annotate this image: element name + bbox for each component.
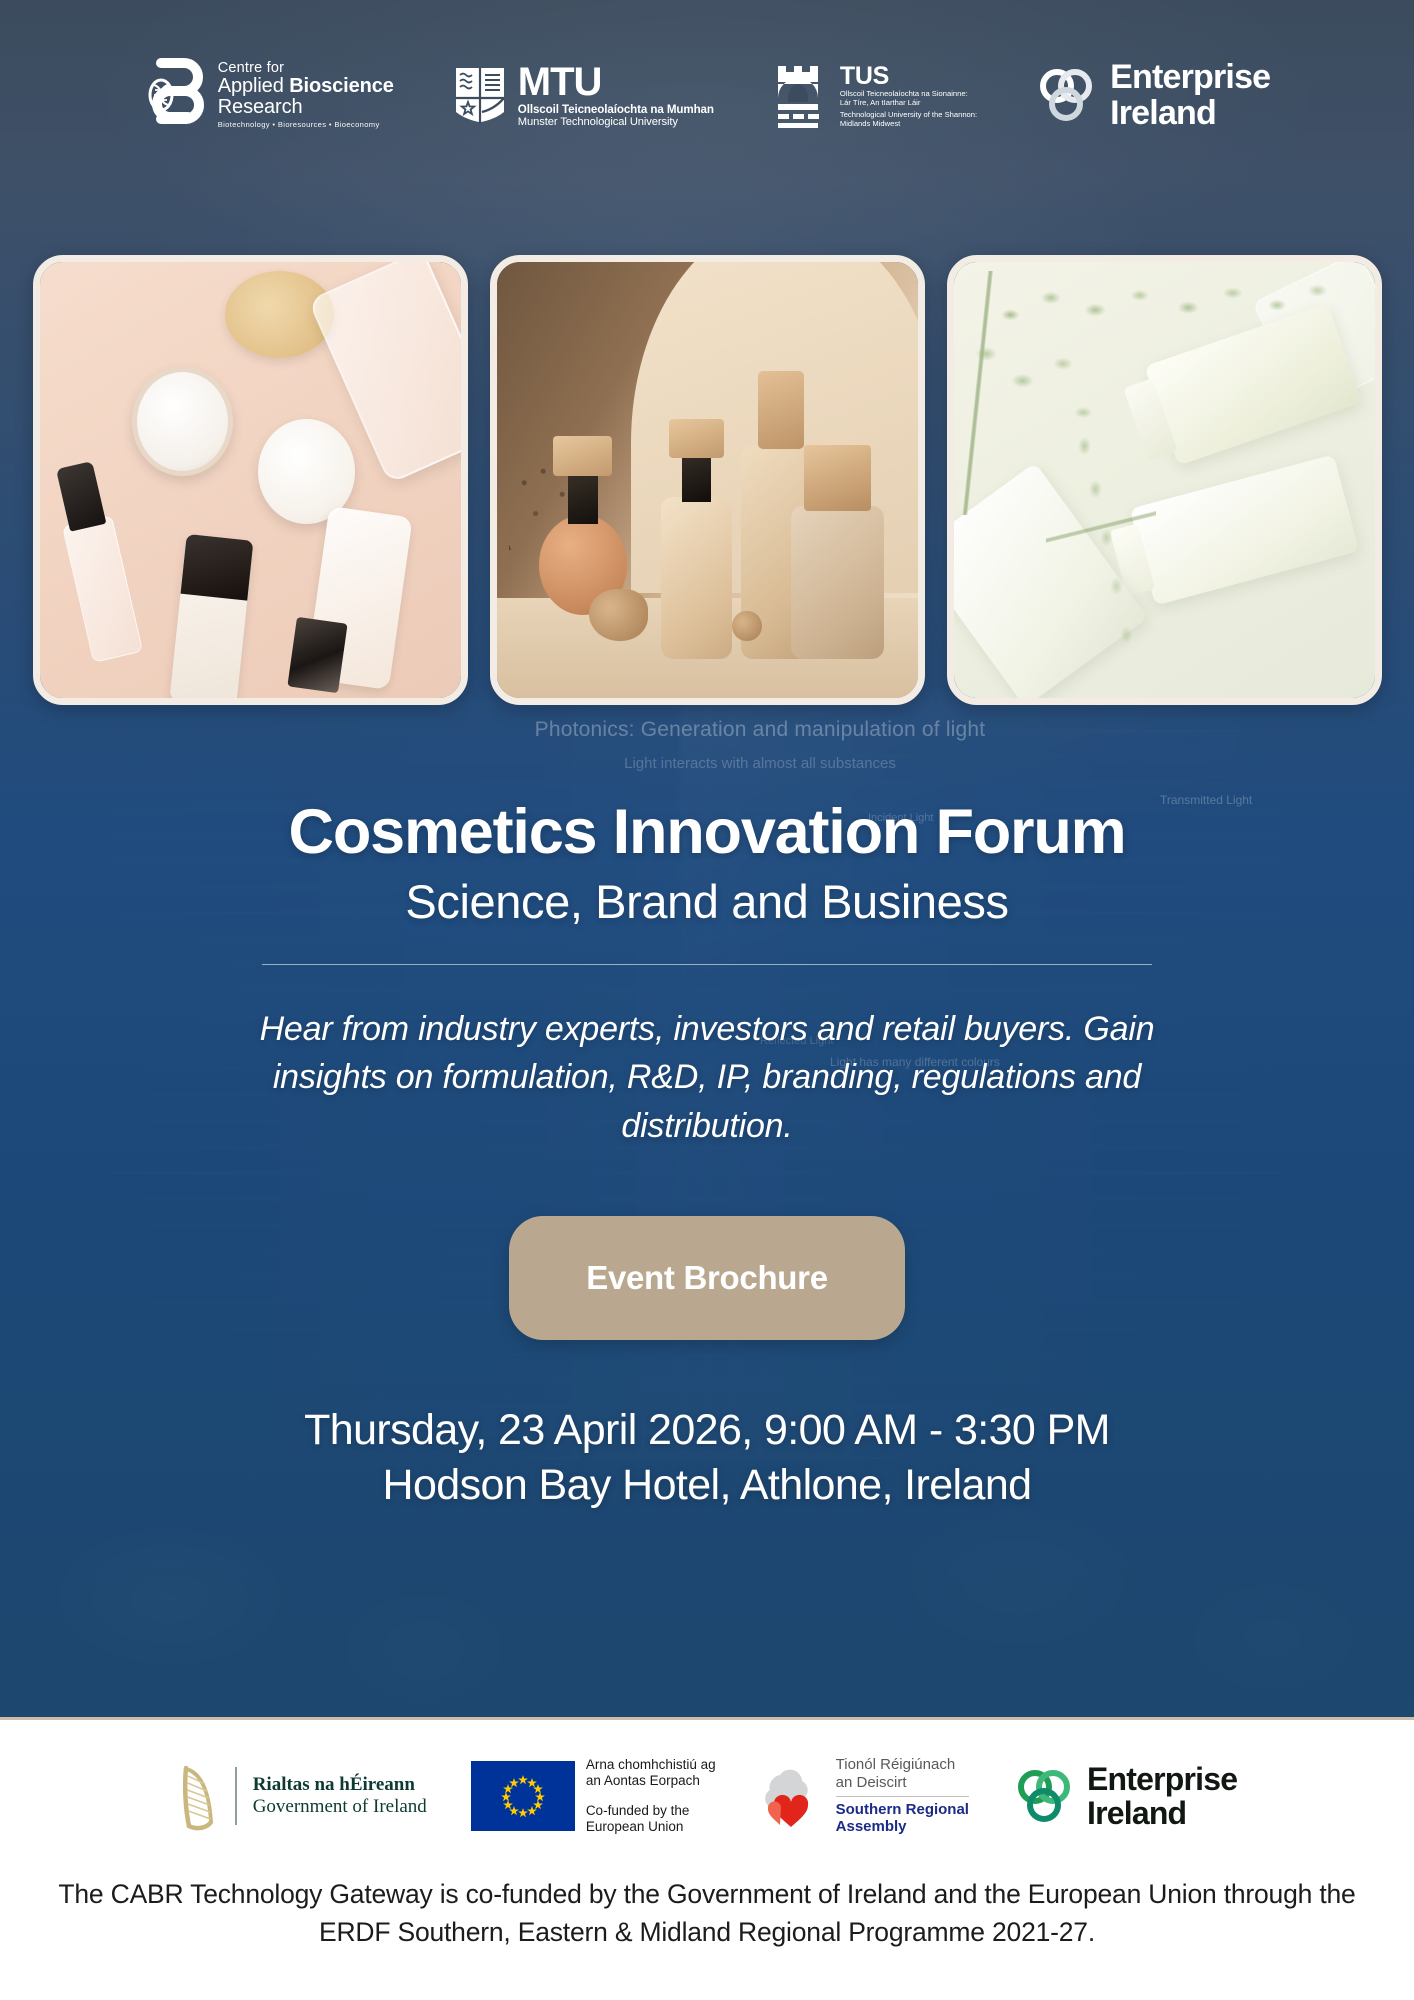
enterprise-ireland-trefoil-icon — [1013, 1767, 1075, 1825]
serum-dropper-bottle — [62, 515, 143, 662]
irish-harp-icon — [177, 1760, 219, 1832]
cabr-line3: Research — [218, 97, 394, 118]
eu-irish-line1: Arna chomhchistiú ag — [586, 1757, 716, 1773]
walnut-small — [732, 611, 761, 642]
ei-line2: Ireland — [1110, 96, 1270, 130]
government-of-ireland-logo: Rialtas na hÉireann Government of Irelan… — [177, 1760, 427, 1832]
eucalyptus-sprig-upper — [962, 271, 1366, 515]
event-brochure-button[interactable]: Event Brochure — [509, 1216, 905, 1340]
tus-english-line2: Midlands Midwest — [840, 120, 977, 129]
sra-english-line2: Assembly — [836, 1818, 969, 1836]
cream-bottle-neck — [682, 458, 711, 502]
black-cap — [287, 616, 347, 692]
eu-wordmark: Arna chomhchistiú ag an Aontas Eorpach C… — [586, 1757, 716, 1836]
tall-bottle-pump — [758, 371, 804, 449]
mtu-shield-icon — [452, 62, 508, 128]
event-venue: Hodson Bay Hotel, Athlone, Ireland — [0, 1458, 1414, 1513]
poster-content: Cosmetics Innovation Forum Science, Bran… — [0, 705, 1414, 1513]
european-union-logo: Arna chomhchistiú ag an Aontas Eorpach C… — [471, 1757, 716, 1836]
sra-cloud-heart-icon — [760, 1765, 826, 1827]
tus-irish-line2: Lár Tíre, An tIarthar Láir — [840, 99, 977, 108]
gov-wordmark: Rialtas na hÉireann Government of Irelan… — [253, 1774, 427, 1818]
photo-pump-bottles — [490, 255, 925, 705]
ei-line1: Enterprise — [1110, 60, 1270, 94]
page-subtitle: Science, Brand and Business — [0, 876, 1414, 929]
eucalyptus-sprig-lower — [1046, 419, 1155, 689]
mtu-irish-name: Ollscoil Teicneolaíochta na Mumhan — [518, 104, 714, 116]
southern-regional-assembly-logo: Tionól Réigiúnach an Deiscirt Southern R… — [760, 1756, 969, 1836]
enterprise-ireland-footer-wordmark: Enterprise Ireland — [1087, 1763, 1237, 1829]
enterprise-ireland-trefoil-icon — [1035, 66, 1097, 124]
round-bottle-pump — [553, 436, 612, 475]
funding-note: The CABR Technology Gateway is co-funded… — [0, 1876, 1414, 1951]
tus-acronym: TUS — [840, 62, 977, 90]
partner-logo-bar: Centre for Applied Bioscience Research B… — [0, 0, 1414, 190]
event-poster: Photonics: Generation and manipulation o… — [0, 0, 1414, 2000]
mtu-wordmark: MTU Ollscoil Teicneolaíochta na Mumhan M… — [518, 62, 714, 128]
cabr-line1: Centre for — [218, 61, 394, 76]
gov-irish-name: Rialtas na hÉireann — [253, 1774, 427, 1796]
sra-irish-line2: an Deiscirt — [836, 1774, 969, 1792]
black-cap-tube — [170, 534, 254, 705]
cabr-logo: Centre for Applied Bioscience Research B… — [144, 57, 394, 133]
mtu-acronym: MTU — [518, 62, 714, 102]
funder-logo-bar: Rialtas na hÉireann Government of Irelan… — [0, 1720, 1414, 1872]
eu-english-line1: Co-funded by the — [586, 1803, 716, 1819]
eu-spacer — [586, 1789, 716, 1803]
cabr-mark-icon — [144, 57, 206, 133]
sra-english-line1: Southern Regional — [836, 1801, 969, 1819]
eu-irish-line2: an Aontas Eorpach — [586, 1773, 716, 1789]
enterprise-ireland-footer-logo: Enterprise Ireland — [1013, 1763, 1237, 1829]
tus-wordmark: TUS Ollscoil Teicneolaíochta na Sionainn… — [840, 62, 977, 128]
sra-divider — [836, 1796, 969, 1797]
enterprise-ireland-wordmark: Enterprise Ireland — [1110, 60, 1270, 130]
event-description: Hear from industry experts, investors an… — [207, 1005, 1207, 1150]
mtu-english-name: Munster Technological University — [518, 117, 714, 128]
event-datetime: Thursday, 23 April 2026, 9:00 AM - 3:30 … — [0, 1403, 1414, 1458]
eu-english-line2: European Union — [586, 1819, 716, 1835]
photo-cream-tubes — [947, 255, 1382, 705]
page-title: Cosmetics Innovation Forum — [0, 800, 1414, 866]
cabr-line2-plain: Applied — [218, 75, 289, 97]
eif-line2: Ireland — [1087, 1797, 1237, 1829]
funding-footer: Rialtas na hÉireann Government of Irelan… — [0, 1717, 1414, 2000]
cabr-line2-bold: Bioscience — [289, 75, 394, 97]
sra-wordmark: Tionól Réigiúnach an Deiscirt Southern R… — [836, 1756, 969, 1836]
tus-tower-icon — [772, 62, 830, 128]
cabr-wordmark: Centre for Applied Bioscience Research B… — [218, 61, 394, 129]
photo-cosmetics-flatlay — [33, 255, 468, 705]
gov-divider — [235, 1767, 237, 1825]
cabr-tagline: Biotechnology • Bioresources • Bioeconom… — [218, 121, 394, 129]
cream-jar-open — [132, 367, 233, 476]
enterprise-ireland-logo: Enterprise Ireland — [1035, 60, 1270, 130]
round-bottle-neck — [568, 471, 597, 523]
tus-logo: TUS Ollscoil Teicneolaíochta na Sionainn… — [772, 62, 977, 128]
cream-pump-bottle — [661, 497, 733, 658]
cabr-line2: Applied Bioscience — [218, 76, 394, 97]
frosted-jar — [791, 506, 884, 659]
gov-english-name: Government of Ireland — [253, 1796, 427, 1818]
photo-gallery — [0, 255, 1414, 705]
divider — [262, 964, 1152, 965]
mtu-logo: MTU Ollscoil Teicneolaíochta na Mumhan M… — [452, 62, 714, 128]
eif-line1: Enterprise — [1087, 1763, 1237, 1795]
walnut-large — [589, 589, 648, 641]
cream-bottle-pump — [669, 419, 724, 458]
sra-irish-line1: Tionól Réigiúnach — [836, 1756, 969, 1774]
eu-flag-icon — [471, 1761, 575, 1831]
cta-container: Event Brochure — [0, 1216, 1414, 1340]
frosted-jar-cap — [804, 445, 871, 510]
